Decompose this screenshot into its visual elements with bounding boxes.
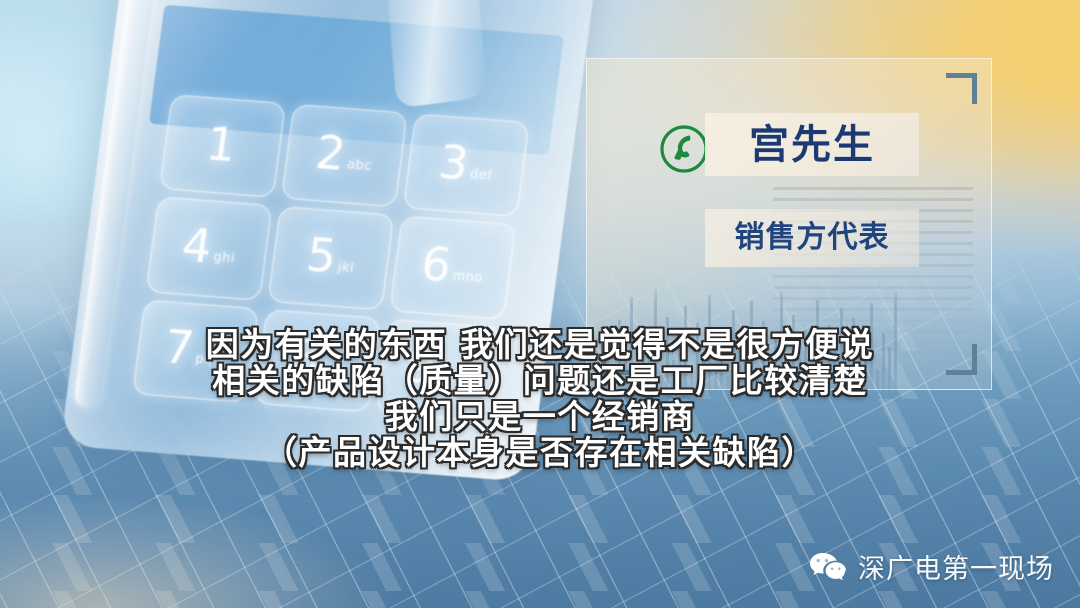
keypad-key-4: 4ghi: [147, 198, 271, 299]
keypad-key-digit: 1: [204, 120, 239, 168]
keypad-key-digit: 6: [419, 240, 454, 288]
keypad-key-digit: 3: [436, 138, 471, 186]
broadcast-frame: 1 2abc 3def 4ghi 5jkl 6mno 7pqrs 8tuv 9w…: [0, 0, 1080, 608]
keypad-key-digit: 5: [304, 231, 339, 279]
keypad-key-1: 1: [161, 95, 285, 196]
phone-handset-icon: [657, 122, 711, 176]
keypad-key-6: 6mno: [391, 217, 515, 318]
keypad-key-digit: 4: [179, 222, 214, 270]
keypad-key-letters: pqrs: [194, 352, 227, 374]
keypad-key-letters: ghi: [212, 250, 236, 272]
keypad-key-9: 9wxyz: [377, 320, 501, 421]
caller-name-banner: 宫先生: [705, 113, 919, 176]
wechat-icon: [808, 551, 848, 583]
keypad-key-digit: 7: [161, 324, 196, 372]
phone-keypad: 1 2abc 3def 4ghi 5jkl 6mno 7pqrs 8tuv 9w…: [134, 95, 529, 420]
channel-watermark: 深广电第一现场: [808, 547, 1054, 586]
keypad-key-letters: jkl: [336, 260, 355, 281]
keypad-key-letters: abc: [345, 157, 372, 179]
phone-illustration: 1 2abc 3def 4ghi 5jkl 6mno 7pqrs 8tuv 9w…: [60, 0, 600, 482]
keypad-key-digit: 9: [403, 343, 438, 391]
caller-role-banner: 销售方代表: [705, 209, 919, 267]
keypad-key-letters: wxyz: [435, 371, 472, 394]
keypad-key-3: 3def: [404, 115, 528, 216]
keypad-key-digit: 2: [313, 129, 348, 177]
keypad-key-2: 2abc: [282, 105, 406, 206]
keypad-key-digit: 8: [287, 334, 322, 382]
keypad-key-5: 5jkl: [269, 208, 393, 309]
keypad-key-letters: def: [468, 167, 493, 189]
caller-name: 宫先生: [749, 125, 875, 165]
keypad-key-8: 8tuv: [255, 310, 379, 411]
caller-role: 销售方代表: [735, 223, 890, 253]
audio-waveform-decoration: [600, 282, 960, 407]
keypad-key-letters: [236, 163, 237, 168]
keypad-key-letters: mno: [451, 269, 484, 291]
phone-highlight-streak: [382, 0, 487, 108]
corner-bracket-top-right-icon: [946, 73, 977, 104]
keypad-key-7: 7pqrs: [134, 300, 258, 401]
watermark-label: 深广电第一现场: [858, 547, 1054, 586]
keypad-key-letters: tuv: [320, 362, 345, 384]
